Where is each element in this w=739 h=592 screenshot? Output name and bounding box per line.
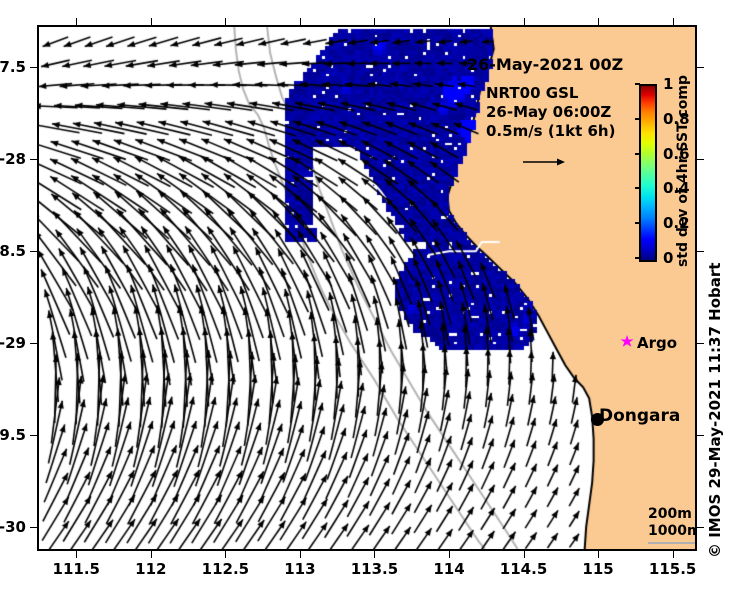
x-tick-top [449, 18, 450, 25]
y-tick [30, 435, 37, 436]
reference-vector-arrow-icon [522, 157, 566, 167]
colorbar-gradient [639, 84, 657, 262]
x-tick [673, 551, 674, 558]
x-tick-top [225, 18, 226, 25]
y-tick-right [697, 159, 704, 160]
x-tick [225, 551, 226, 558]
x-tick [524, 551, 525, 558]
colorbar-tick [635, 222, 640, 224]
y-tick [30, 527, 37, 528]
x-tick-top [76, 18, 77, 25]
x-tick-top [673, 18, 674, 25]
x-tick-label: 114 [433, 560, 464, 578]
y-tick [30, 67, 37, 68]
colorbar-title: std dev of 4hr SST comp [675, 75, 691, 267]
bathymetry-contour-legend: 200m 1000m [648, 506, 697, 544]
y-tick-right [697, 251, 704, 252]
colorbar-tick [635, 83, 640, 85]
contour-legend-1000m: 1000m [648, 523, 697, 540]
annotation-source: NRT00 GSL [486, 84, 615, 103]
contour-legend-200m: 200m [648, 506, 697, 523]
y-tick-label: -28.5 [0, 242, 26, 260]
imos-credit: © IMOS 29-May-2021 11:37 Hobart [706, 263, 724, 558]
y-tick-label: -27.5 [0, 58, 26, 76]
x-tick-label: 112 [135, 560, 166, 578]
x-tick [151, 551, 152, 558]
y-tick-label: -29 [0, 334, 26, 352]
dongara-label: Dongara [599, 406, 680, 426]
map-plot-area: 26-May-2021 00Z NRT00 GSL 26-May 06:00Z … [37, 25, 697, 551]
x-tick-top [300, 18, 301, 25]
x-tick [598, 551, 599, 558]
current-annotation-block: NRT00 GSL 26-May 06:00Z 0.5m/s (1kt 6h) [486, 84, 615, 141]
x-tick [449, 551, 450, 558]
x-tick-top [598, 18, 599, 25]
contour-legend-line [648, 542, 697, 544]
x-tick [300, 551, 301, 558]
x-tick-label: 112.5 [202, 560, 249, 578]
y-tick-right [697, 67, 704, 68]
x-tick-label: 115.5 [649, 560, 696, 578]
x-tick [76, 551, 77, 558]
y-tick-right [697, 435, 704, 436]
colorbar-tick [635, 153, 640, 155]
x-tick-top [524, 18, 525, 25]
x-tick-label: 114.5 [500, 560, 547, 578]
y-tick-label: -28 [0, 150, 26, 168]
colorbar-tick [635, 257, 640, 259]
colorbar-tick [635, 187, 640, 189]
colorbar-tick-label: 0 [663, 249, 673, 267]
x-tick-label: 113.5 [351, 560, 398, 578]
x-tick-label: 113 [284, 560, 315, 578]
colorbar-tick [635, 118, 640, 120]
annotation-scale: 0.5m/s (1kt 6h) [486, 122, 615, 141]
y-tick-right [697, 527, 704, 528]
x-tick [374, 551, 375, 558]
figure-root: 26-May-2021 00Z NRT00 GSL 26-May 06:00Z … [0, 0, 739, 592]
x-tick-label: 111.5 [53, 560, 100, 578]
colorbar-tick-label: 1 [663, 75, 673, 93]
y-tick-label: -29.5 [0, 426, 26, 444]
y-tick [30, 159, 37, 160]
argo-legend-label: Argo [637, 334, 677, 352]
x-tick-top [151, 18, 152, 25]
y-tick-right [697, 343, 704, 344]
y-tick [30, 251, 37, 252]
x-tick-top [374, 18, 375, 25]
colorbar: 00.20.40.60.81 std dev of 4hr SST comp [639, 74, 697, 289]
annotation-time: 26-May 06:00Z [486, 103, 615, 122]
date-stamp: 26-May-2021 00Z [467, 55, 623, 74]
y-tick [30, 343, 37, 344]
x-tick-label: 115 [582, 560, 613, 578]
argo-hexagram-icon [620, 335, 634, 349]
y-tick-label: -30 [0, 518, 26, 536]
